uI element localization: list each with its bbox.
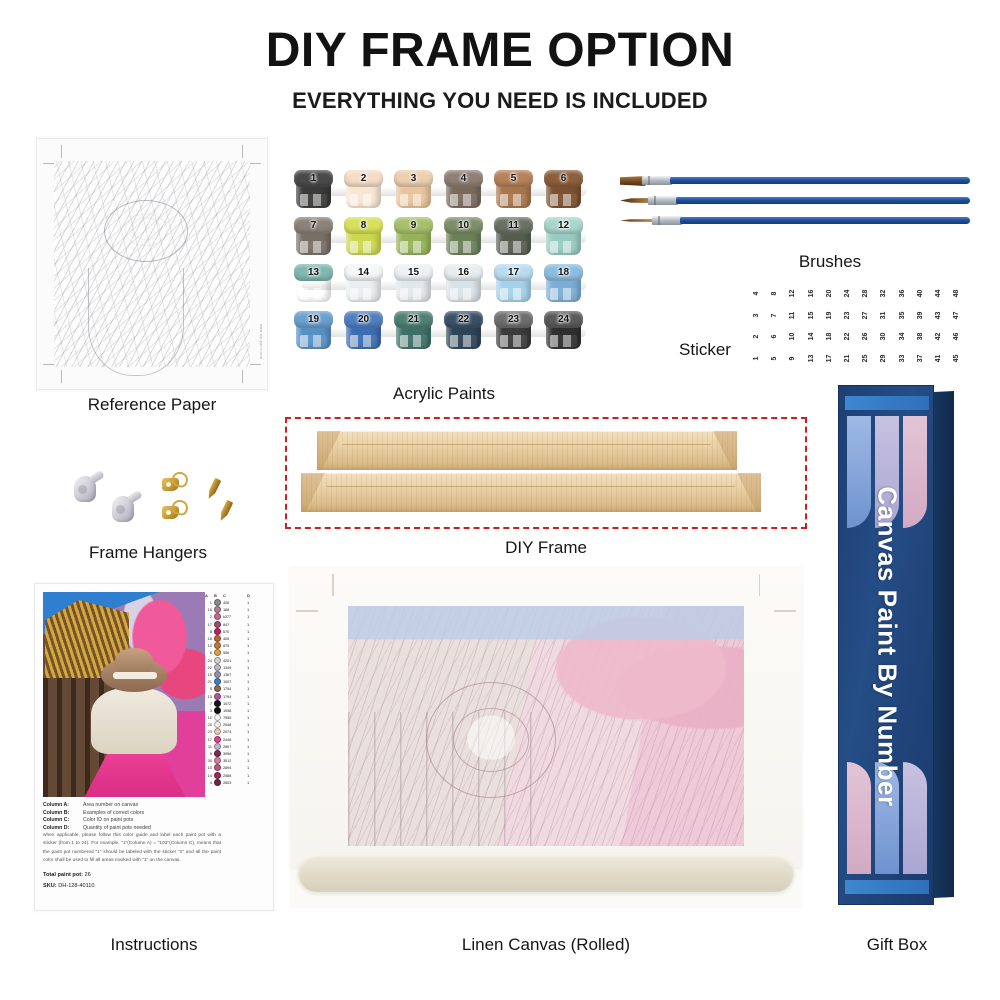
sticker-number[interactable]: 42: [935, 328, 942, 345]
paint-pot-number: 12: [544, 217, 583, 234]
color-key-area-number: 22: [205, 665, 212, 670]
sticker-column: 24232221: [839, 290, 856, 362]
color-key-color-id: 906: [223, 650, 245, 655]
reference-paper-item: www.diy-paint.com: [36, 138, 268, 390]
color-key-area-number: 10: [205, 715, 212, 720]
color-key-color-id: 4201: [223, 658, 245, 663]
sticker-column: 20191817: [821, 290, 838, 362]
sticker-number[interactable]: 44: [935, 285, 942, 302]
color-key-color-id: 2897: [223, 744, 245, 749]
caption-linen-canvas: Linen Canvas (Rolled): [290, 935, 802, 955]
color-key-swatch: [214, 772, 221, 779]
color-key-color-id: 2603: [223, 780, 245, 785]
color-key-row: 2442011: [205, 657, 267, 664]
paint-pot-number: 16: [444, 264, 483, 281]
color-key-quantity: 1: [247, 686, 253, 691]
color-key-row: 86701: [205, 628, 267, 635]
color-key-quantity: 1: [247, 773, 253, 778]
color-key-swatch: [214, 685, 221, 692]
paint-pot-number: 9: [394, 217, 433, 234]
color-key-color-id: 879: [223, 643, 245, 648]
color-key-header-cell: C: [223, 593, 245, 598]
paint-pot-number: 3: [394, 170, 433, 187]
color-key-row: 1128971: [205, 743, 267, 750]
wall-hook-icon: [74, 476, 96, 502]
sticker-number[interactable]: 5: [771, 350, 778, 367]
gift-box-title: Canvas Paint By Number: [872, 486, 903, 806]
frame-hangers-item: [70, 470, 260, 532]
caption-diy-frame: DIY Frame: [285, 538, 807, 558]
paint-pot-7[interactable]: 7: [294, 217, 333, 257]
sticker-number[interactable]: 14: [808, 328, 815, 345]
color-key-swatch: [214, 779, 221, 786]
sticker-column: 36353433: [894, 290, 911, 362]
diy-frame-item: [285, 417, 807, 529]
color-key-swatch: [214, 757, 221, 764]
paint-pot-16[interactable]: 16: [444, 264, 483, 304]
color-key-color-id: 2588: [223, 773, 245, 778]
sticker-number[interactable]: 21: [844, 350, 851, 367]
color-key-swatch: [214, 628, 221, 635]
color-key-area-number: 8: [205, 629, 212, 634]
color-key-area-number: 30: [205, 758, 212, 763]
color-key-quantity: 1: [247, 600, 253, 605]
color-key-color-id: 1367: [223, 672, 245, 677]
color-key-swatch: [214, 642, 221, 649]
color-key-row: 517541: [205, 685, 267, 692]
sticker-number[interactable]: 7: [771, 307, 778, 324]
d-ring-hanger-icon: [162, 500, 188, 520]
color-key-quantity: 1: [247, 665, 253, 670]
color-key-swatch: [214, 635, 221, 642]
screw-icon: [218, 500, 234, 523]
paint-pot-number: 20: [344, 311, 383, 328]
sticker-number[interactable]: 16: [808, 285, 815, 302]
color-key-swatch: [214, 714, 221, 721]
sticker-number[interactable]: 27: [862, 307, 869, 324]
color-key-color-id: 7955: [223, 715, 245, 720]
sticker-number[interactable]: 26: [862, 328, 869, 345]
color-key-quantity: 1: [247, 701, 253, 706]
paint-pot-number: 6: [544, 170, 583, 187]
paint-pot-number: 5: [494, 170, 533, 187]
color-key-swatch: [214, 599, 221, 606]
caption-frame-hangers: Frame Hangers: [48, 543, 248, 563]
liner-brush: [620, 216, 970, 225]
color-key-quantity: 1: [247, 658, 253, 663]
paint-pot-number: 22: [444, 311, 483, 328]
sticker-number[interactable]: 17: [826, 350, 833, 367]
sticker-number[interactable]: 30: [880, 328, 887, 345]
liner-brush-tip: [620, 219, 654, 222]
canvas-printed-outline: [348, 606, 744, 846]
sticker-column: 1211109: [784, 290, 801, 362]
sticker-column: 40393837: [912, 290, 929, 362]
color-key-quantity: 1: [247, 780, 253, 785]
paint-pot-number: 11: [494, 217, 533, 234]
sticker-number[interactable]: 25: [862, 350, 869, 367]
page-subtitle: EVERYTHING YOU NEED IS INCLUDED: [0, 88, 1000, 114]
color-key-area-number: 6: [205, 650, 212, 655]
stretcher-bar: [301, 473, 761, 512]
color-key-quantity: 1: [247, 679, 253, 684]
gift-box-title-wrap: Canvas Paint By Number: [839, 386, 935, 906]
color-key-swatch: [214, 657, 221, 664]
color-key-quantity: 1: [247, 614, 253, 619]
color-key-color-id: 1938: [223, 708, 245, 713]
brushes-item: [620, 172, 970, 242]
d-ring-hanger-icon: [162, 472, 188, 492]
color-key-swatch: [214, 693, 221, 700]
color-key-swatch: [214, 750, 221, 757]
color-key-quantity: 1: [247, 672, 253, 677]
paint-pot-23[interactable]: 23: [494, 311, 533, 351]
sticker-number[interactable]: 40: [917, 285, 924, 302]
paint-pot-21[interactable]: 21: [394, 311, 433, 351]
legend-row: Column D:Quantity of paint pots needed: [43, 825, 213, 831]
canvas-sheet: [290, 568, 802, 868]
sticker-number[interactable]: 18: [826, 328, 833, 345]
color-key-header-cell: B: [214, 593, 221, 598]
color-key-area-number: 21: [205, 679, 212, 684]
sticker-number[interactable]: 41: [935, 350, 942, 367]
sticker-number[interactable]: 11: [789, 307, 796, 324]
legend-value: Examples of correct colors: [83, 810, 144, 816]
color-key-quantity: 1: [247, 751, 253, 756]
paint-pot-18[interactable]: 18: [544, 264, 583, 304]
sticker-number[interactable]: 2: [753, 328, 760, 345]
color-key-swatch: [214, 649, 221, 656]
legend-row: Column A:Area number on canvas: [43, 802, 213, 808]
color-key-color-id: 2448: [223, 737, 245, 742]
color-key-color-id: 847: [223, 622, 245, 627]
color-key-table: ABCD142611616812k37711784718670118405110…: [205, 592, 267, 797]
color-key-row: 1028941: [205, 764, 267, 771]
color-key-color-id: 405: [223, 636, 245, 641]
legend-key: Column A:: [43, 802, 77, 808]
gift-box-side: [934, 391, 954, 898]
paint-pot-6[interactable]: 6: [544, 170, 583, 210]
color-key-area-number: 3: [205, 708, 212, 713]
sticker-number[interactable]: 43: [935, 307, 942, 324]
color-key-swatch: [214, 728, 221, 735]
paint-pot-15[interactable]: 15: [394, 264, 433, 304]
paint-pot-number: 4: [444, 170, 483, 187]
paint-pot-row: 131415161718: [294, 260, 594, 306]
flat-brush: [620, 176, 970, 185]
color-key-header-cell: D: [247, 593, 254, 598]
round-brush-handle: [676, 197, 970, 204]
color-key-area-number: 14: [205, 773, 212, 778]
sticker-number[interactable]: 13: [808, 350, 815, 367]
paint-pot-20[interactable]: 20: [344, 311, 383, 351]
color-key-area-number: 15: [205, 672, 212, 677]
color-key-quantity: 1: [247, 715, 253, 720]
legend-key: Column D:: [43, 825, 77, 831]
color-key-color-id: 1794: [223, 694, 245, 699]
sticker-number[interactable]: 22: [844, 328, 851, 345]
paint-pot-3[interactable]: 3: [394, 170, 433, 210]
paint-pot-row: 192021222324: [294, 307, 594, 353]
paint-pot-11[interactable]: 11: [494, 217, 533, 257]
color-key-area-number: 17: [205, 737, 212, 742]
color-key-swatch: [214, 743, 221, 750]
color-key-row: 184051: [205, 635, 267, 642]
round-brush-ferrule: [648, 196, 678, 205]
screw-icon: [206, 478, 222, 501]
caption-sticker: Sticker: [660, 340, 750, 360]
color-key-swatch: [214, 621, 221, 628]
sticker-number[interactable]: 9: [789, 350, 796, 367]
color-key-area-number: 11: [205, 744, 212, 749]
color-key-row: 1079551: [205, 714, 267, 721]
color-key-area-number: 5: [205, 686, 212, 691]
paint-pot-12[interactable]: 12: [544, 217, 583, 257]
sticker-number[interactable]: 31: [880, 307, 887, 324]
reference-hat: [104, 200, 188, 262]
sticker-sheet-item: 4321876512111091615141320191817242322212…: [748, 290, 970, 362]
stretcher-bar: [317, 431, 737, 470]
sticker-number[interactable]: 35: [899, 307, 906, 324]
color-key-quantity: 1: [247, 636, 253, 641]
color-key-swatch: [214, 671, 221, 678]
color-key-color-id: k377: [223, 614, 245, 619]
sticker-number[interactable]: 23: [844, 307, 851, 324]
color-key-swatch: [214, 664, 221, 671]
color-key-area-number: 9: [205, 751, 212, 756]
color-key-quantity: 1: [247, 729, 253, 734]
sticker-number[interactable]: 3: [753, 307, 760, 324]
sticker-number[interactable]: 47: [953, 307, 960, 324]
sticker-number[interactable]: 39: [917, 307, 924, 324]
color-key-header: ABCD: [205, 592, 267, 599]
color-key-quantity: 1: [247, 758, 253, 763]
sticker-number[interactable]: 4: [753, 285, 760, 302]
color-key-quantity: 1: [247, 765, 253, 770]
color-key-color-id: 670: [223, 629, 245, 634]
color-key-swatch: [214, 678, 221, 685]
color-key-color-id: 3512: [223, 758, 245, 763]
legend-key: Column C:: [43, 817, 77, 823]
canvas-hat-outline: [426, 682, 556, 798]
paint-pot-number: 10: [444, 217, 483, 234]
color-key-area-number: 4: [205, 780, 212, 785]
sticker-number[interactable]: 6: [771, 328, 778, 345]
color-key-row: 710721: [205, 700, 267, 707]
color-key-quantity: 1: [247, 629, 253, 634]
color-key-area-number: 7: [205, 701, 212, 706]
color-key-row: 1317941: [205, 692, 267, 699]
flat-brush-handle: [670, 177, 970, 184]
paint-pot-13[interactable]: 13: [294, 264, 333, 304]
sticker-number[interactable]: 46: [953, 328, 960, 345]
color-key-row: 2110071: [205, 678, 267, 685]
paint-pot-24[interactable]: 24: [544, 311, 583, 351]
flat-brush-ferrule: [642, 176, 672, 185]
color-key-area-number: 24: [205, 658, 212, 663]
caption-acrylic-paints: Acrylic Paints: [294, 384, 594, 404]
sticker-number[interactable]: 8: [771, 285, 778, 302]
color-key-area-number: 10: [205, 643, 212, 648]
color-key-color-id: 1754: [223, 686, 245, 691]
paint-pot-number: 23: [494, 311, 533, 328]
paint-pot-1[interactable]: 1: [294, 170, 333, 210]
color-key-row: 178471: [205, 621, 267, 628]
color-key-row: 319381: [205, 707, 267, 714]
paint-pot-row: 789101112: [294, 213, 594, 259]
acrylic-paints-item: 123456789101112131415161718192021222324: [294, 166, 594, 352]
sticker-column: 8765: [766, 290, 783, 362]
wall-hook-icon: [112, 496, 134, 522]
sticker-number[interactable]: 37: [917, 350, 924, 367]
liner-brush-ferrule: [652, 216, 682, 225]
color-key-swatch: [214, 721, 221, 728]
paint-pot-number: 18: [544, 264, 583, 281]
reference-line-art: [54, 161, 250, 367]
sticker-column: 44434241: [930, 290, 947, 362]
paint-pot-19[interactable]: 19: [294, 311, 333, 351]
color-key-area-number: 18: [205, 636, 212, 641]
color-key-row: 426031: [205, 779, 267, 786]
legend-key: Column B:: [43, 810, 77, 816]
color-key-color-id: 2894: [223, 765, 245, 770]
color-key-quantity: 1: [247, 694, 253, 699]
color-key-area-number: 17: [205, 622, 212, 627]
color-key-color-id: 426: [223, 600, 245, 605]
color-key-row: 2k3771: [205, 613, 267, 620]
color-key-quantity: 1: [247, 737, 253, 742]
column-legend: Column A:Area number on canvasColumn B:E…: [43, 802, 213, 832]
paint-pot-number: 13: [294, 264, 333, 281]
canvas-roll: [298, 854, 794, 892]
color-key-color-id: 3956: [223, 751, 245, 756]
color-key-swatch: [214, 613, 221, 620]
sticker-number[interactable]: 32: [880, 285, 887, 302]
reference-side-code: www.diy-paint.com: [259, 324, 263, 359]
liner-brush-handle: [680, 217, 970, 224]
sticker-column: 4321: [748, 290, 765, 362]
sticker-number[interactable]: 33: [899, 350, 906, 367]
caption-reference-paper: Reference Paper: [36, 395, 268, 415]
color-key-row: 1724481: [205, 736, 267, 743]
sticker-number[interactable]: 1: [753, 350, 760, 367]
sticker-number[interactable]: 36: [899, 285, 906, 302]
paint-pot-number: 21: [394, 311, 433, 328]
sticker-number[interactable]: 28: [862, 285, 869, 302]
sticker-column: 32313029: [875, 290, 892, 362]
paint-pot-4[interactable]: 4: [444, 170, 483, 210]
sticker-column: 28272625: [857, 290, 874, 362]
color-key-row: 1513671: [205, 671, 267, 678]
color-key-swatch: [214, 707, 221, 714]
paint-pot-9[interactable]: 9: [394, 217, 433, 257]
color-key-quantity: 1: [247, 622, 253, 627]
color-key-header-cell: A: [205, 593, 212, 598]
legend-value: Quantity of paint pots needed: [83, 825, 151, 831]
paint-pot-row: 123456: [294, 166, 594, 212]
paint-pot-number: 7: [294, 217, 333, 234]
color-key-area-number: 23: [205, 729, 212, 734]
sticker-number[interactable]: 34: [899, 328, 906, 345]
color-key-swatch: [214, 700, 221, 707]
sticker-column: 16151413: [803, 290, 820, 362]
paint-pot-8[interactable]: 8: [344, 217, 383, 257]
paint-pot-number: 8: [344, 217, 383, 234]
color-key-row: 1425881: [205, 772, 267, 779]
color-key-quantity: 1: [247, 708, 253, 713]
paint-pot-17[interactable]: 17: [494, 264, 533, 304]
sticker-number[interactable]: 45: [953, 350, 960, 367]
round-brush: [620, 196, 970, 205]
sticker-number[interactable]: 29: [880, 350, 887, 367]
color-key-color-id: 1072: [223, 701, 245, 706]
sticker-number[interactable]: 10: [789, 328, 796, 345]
legend-row: Column B:Examples of correct colors: [43, 810, 213, 816]
sticker-number[interactable]: 48: [953, 285, 960, 302]
paint-pot-22[interactable]: 22: [444, 311, 483, 351]
caption-instructions: Instructions: [34, 935, 274, 955]
paint-pot-number: 19: [294, 311, 333, 328]
sku-line: SKU: DH-128-40110: [43, 883, 95, 889]
color-key-area-number: 10: [205, 765, 212, 770]
paint-pot-14[interactable]: 14: [344, 264, 383, 304]
sticker-number[interactable]: 24: [844, 285, 851, 302]
color-key-row: 939561: [205, 750, 267, 757]
paint-pot-number: 17: [494, 264, 533, 281]
color-key-row: 2213491: [205, 664, 267, 671]
color-key-row: 14261: [205, 599, 267, 606]
color-key-row: 69061: [205, 649, 267, 656]
product-infographic: DIY FRAME OPTION EVERYTHING YOU NEED IS …: [0, 0, 1000, 1000]
gift-box-front: Canvas Paint By Number: [838, 385, 934, 905]
color-key-row: 3035121: [205, 757, 267, 764]
page-title: DIY FRAME OPTION: [0, 26, 1000, 76]
color-key-quantity: 1: [247, 643, 253, 648]
color-key-row: 161681: [205, 606, 267, 613]
color-key-quantity: 1: [247, 744, 253, 749]
sticker-number[interactable]: 19: [826, 307, 833, 324]
color-key-quantity: 1: [247, 722, 253, 727]
color-key-color-id: 2548: [223, 722, 245, 727]
sticker-number[interactable]: 12: [789, 285, 796, 302]
instructions-artwork: [43, 592, 205, 797]
total-paint-pot: Total paint pot: 26: [43, 872, 91, 878]
sticker-column: 48474645: [948, 290, 965, 362]
color-key-color-id: 2074: [223, 729, 245, 734]
sticker-number[interactable]: 15: [808, 307, 815, 324]
color-key-area-number: 2: [205, 614, 212, 619]
color-key-color-id: 1007: [223, 679, 245, 684]
paint-pot-5[interactable]: 5: [494, 170, 533, 210]
color-key-area-number: 16: [205, 607, 212, 612]
paint-pot-number: 2: [344, 170, 383, 187]
legend-value: Area number on canvas: [83, 802, 138, 808]
color-key-row: 108791: [205, 642, 267, 649]
instructions-item: ABCD142611616812k37711784718670118405110…: [34, 583, 274, 911]
sticker-number[interactable]: 38: [917, 328, 924, 345]
paint-pot-2[interactable]: 2: [344, 170, 383, 210]
caption-brushes: Brushes: [760, 252, 900, 272]
paint-pot-number: 15: [394, 264, 433, 281]
reference-figure: [88, 268, 184, 376]
color-key-area-number: 13: [205, 694, 212, 699]
color-key-color-id: 1349: [223, 665, 245, 670]
sticker-number[interactable]: 20: [826, 285, 833, 302]
color-key-quantity: 1: [247, 607, 253, 612]
paint-pot-number: 1: [294, 170, 333, 187]
color-key-color-id: 168: [223, 607, 245, 612]
paint-pot-10[interactable]: 10: [444, 217, 483, 257]
